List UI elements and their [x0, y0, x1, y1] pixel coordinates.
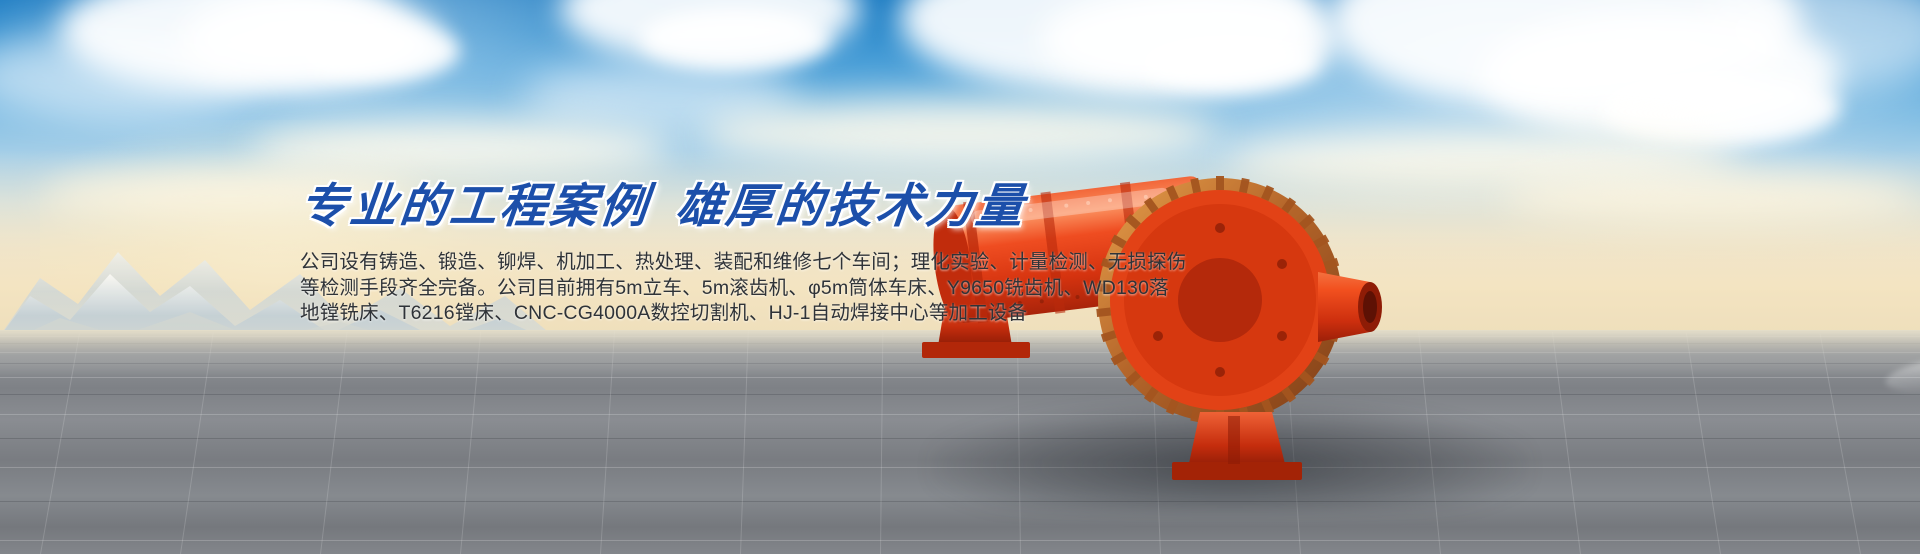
hero-banner: 专业的工程案例雄厚的技术力量 公司设有铸造、锻造、铆焊、机加工、热处理、装配和维… — [0, 0, 1920, 554]
machine-base-plate — [922, 342, 1030, 358]
machine-base-plate — [1172, 462, 1302, 480]
headline-part-1: 专业的工程案例 — [297, 181, 652, 233]
machine-pedestal-rib — [1228, 416, 1240, 464]
cloud-shape — [1140, 34, 1320, 90]
banner-description: 公司设有铸造、锻造、铆焊、机加工、热处理、装配和维修七个车间；理化实验、计量检测… — [300, 250, 1300, 327]
headline-part-2: 雄厚的技术力量 — [673, 181, 1028, 233]
cloud-shape — [300, 22, 460, 80]
description-line-2: 等检测手段齐全完备。公司目前拥有5m立车、5m滚齿机、φ5m筒体车床、Y9650… — [300, 276, 1300, 302]
description-line-3: 地镗铣床、T6216镗床、CNC-CG4000A数控切割机、HJ-1自动焊接中心… — [300, 301, 1300, 327]
banner-text-block: 专业的工程案例雄厚的技术力量 公司设有铸造、锻造、铆焊、机加工、热处理、装配和维… — [300, 178, 1300, 327]
machine-discharge-cone — [1318, 272, 1382, 342]
description-line-1: 公司设有铸造、锻造、铆焊、机加工、热处理、装配和维修七个车间；理化实验、计量检测… — [300, 250, 1300, 276]
page-title: 专业的工程案例雄厚的技术力量 — [297, 178, 1303, 236]
